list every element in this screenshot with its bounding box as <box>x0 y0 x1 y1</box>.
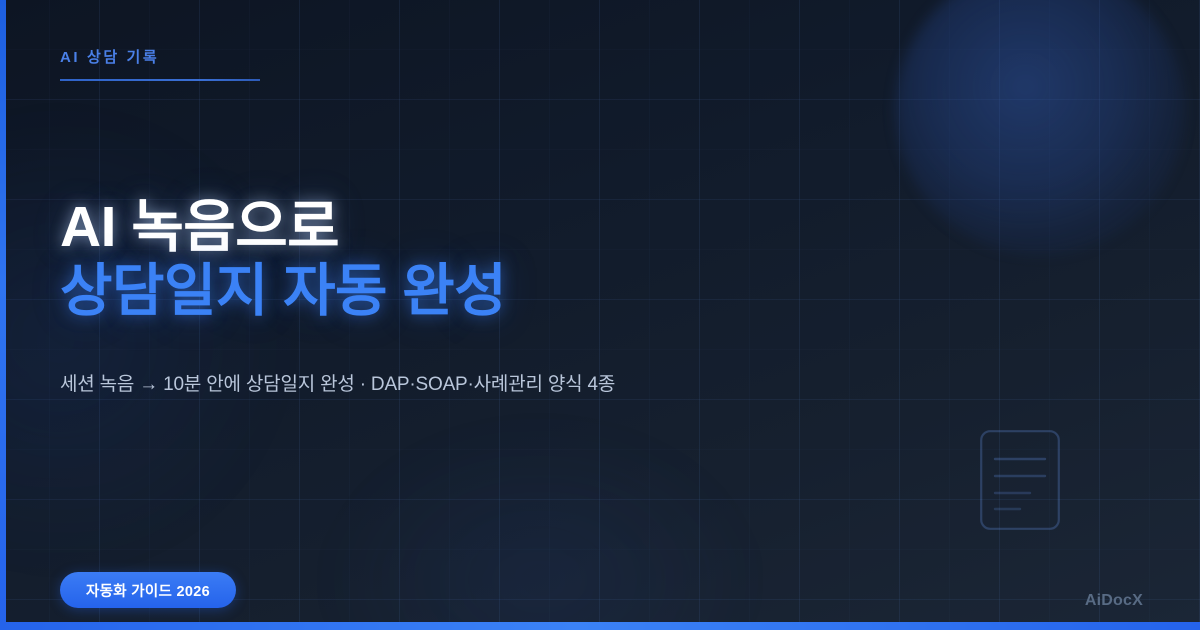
headline-line-2: 상담일지 자동 완성 <box>60 260 506 324</box>
subtitle: 세션 녹음 → 10분 안에 상담일지 완성 · DAP·SOAP·사례관리 양… <box>60 372 615 399</box>
brand-logo: AiDocX <box>1085 592 1143 610</box>
left-accent-bar <box>0 0 6 630</box>
headline-line-1: AI 녹음으로 <box>60 196 506 260</box>
eyebrow-label: AI 상담 기록 <box>60 50 260 67</box>
page-title: AI 녹음으로 상담일지 자동 완성 <box>60 196 506 324</box>
hero-banner: AI 상담 기록 AI 녹음으로 상담일지 자동 완성 세션 녹음 → 10분 … <box>0 0 1200 630</box>
status-badge[interactable]: 자동화 가이드 2026 <box>60 572 236 608</box>
eyebrow-underline <box>60 79 260 81</box>
hero-content: AI 상담 기록 AI 녹음으로 상담일지 자동 완성 세션 녹음 → 10분 … <box>60 0 1140 630</box>
eyebrow: AI 상담 기록 <box>60 50 260 81</box>
